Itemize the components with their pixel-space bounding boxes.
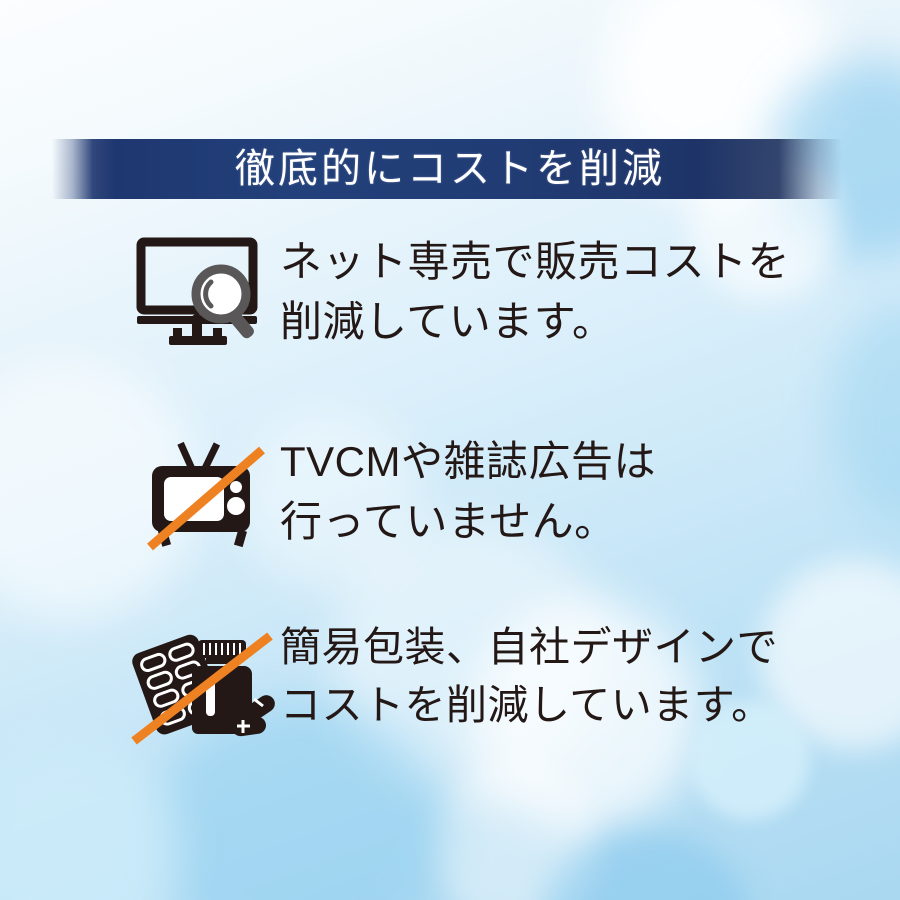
- feature-text-line: TVCMや雑誌広告は: [280, 432, 870, 492]
- no-pills-icon: [130, 618, 280, 747]
- page-title: 徹底的にコストを削減: [52, 139, 842, 199]
- feature-item-online-only: ネット専売で販売コストを 削減しています。: [130, 232, 870, 354]
- feature-text-line: コストを削減しています。: [280, 676, 870, 734]
- feature-text-line: ネット専売で販売コストを: [280, 232, 870, 292]
- feature-text-simple-packaging: 簡易包装、自社デザインで コストを削減しています。: [280, 618, 870, 734]
- feature-text-line: 削減しています。: [280, 292, 870, 352]
- monitor-magnifier-icon: [130, 232, 280, 354]
- feature-item-no-tv-ads: TVCMや雑誌広告は 行っていません。: [130, 430, 870, 554]
- no-tv-icon: [130, 430, 280, 554]
- promo-graphic: 徹底的にコストを削減: [0, 0, 900, 900]
- feature-item-simple-packaging: 簡易包装、自社デザインで コストを削減しています。: [130, 618, 870, 747]
- feature-text-no-tv-ads: TVCMや雑誌広告は 行っていません。: [280, 430, 870, 551]
- feature-text-line: 行っていません。: [280, 492, 870, 552]
- title-banner: 徹底的にコストを削減: [52, 139, 842, 199]
- feature-text-online-only: ネット専売で販売コストを 削減しています。: [280, 232, 870, 351]
- feature-text-line: 簡易包装、自社デザインで: [280, 618, 870, 676]
